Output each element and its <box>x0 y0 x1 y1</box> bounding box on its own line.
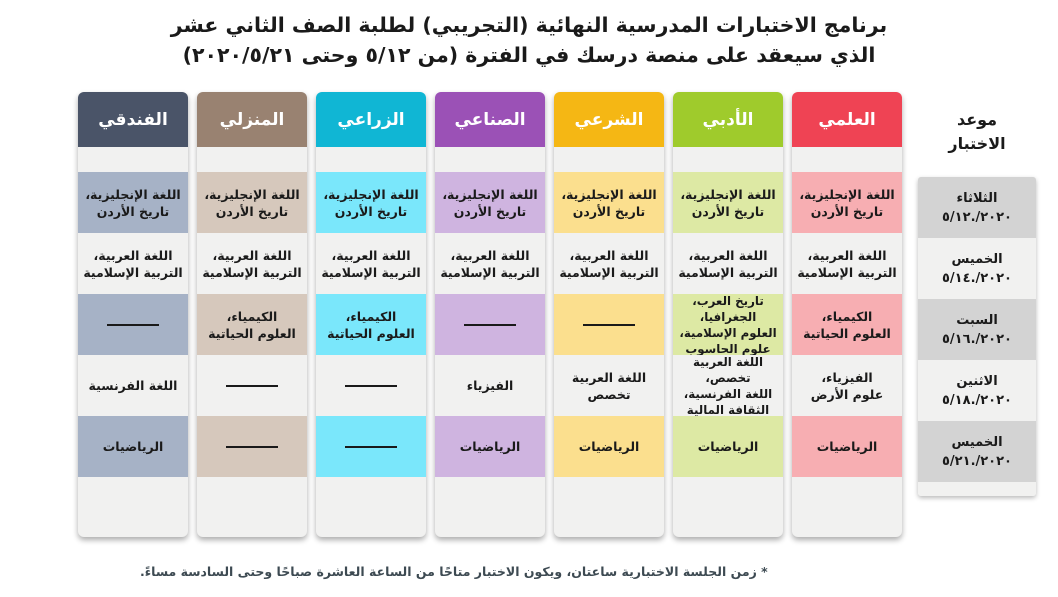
subject-cell: الكيمياء،العلوم الحياتية <box>197 294 307 355</box>
subject-cell: اللغة العربية،التربية الإسلامية <box>554 233 664 294</box>
subject-cell: الرياضيات <box>554 416 664 477</box>
subject-cell-text: اللغة الإنجليزية،تاريخ الأردن <box>799 186 894 220</box>
date-value: ٢٠٢٠/.٥/٢١ <box>942 452 1012 471</box>
subject-cell-line: تاريخ الأردن <box>680 203 775 220</box>
subject-cell: اللغة العربية،التربية الإسلامية <box>78 233 188 294</box>
column-top-spacer <box>435 147 545 172</box>
subject-cell: اللغة العربية،التربية الإسلامية <box>316 233 426 294</box>
column-top-spacer <box>554 147 664 172</box>
subject-cell-text: اللغة الإنجليزية،تاريخ الأردن <box>442 186 537 220</box>
subject-column-header: الزراعي <box>316 92 426 147</box>
subject-cell-text: الرياضيات <box>817 438 878 455</box>
no-exam-dash-icon <box>345 446 397 448</box>
subject-cell-text: اللغة العربية،التربية الإسلامية <box>202 247 301 281</box>
subject-cell-line: اللغة الإنجليزية، <box>323 186 418 203</box>
subject-cell: اللغة العربية،التربية الإسلامية <box>435 233 545 294</box>
subject-cell-line: الرياضيات <box>698 438 759 455</box>
subject-cell-text: اللغة الإنجليزية،تاريخ الأردن <box>85 186 180 220</box>
subject-cell: اللغة الإنجليزية،تاريخ الأردن <box>316 172 426 233</box>
subject-cell: اللغة الإنجليزية،تاريخ الأردن <box>197 172 307 233</box>
subject-cell: الكيمياء،العلوم الحياتية <box>316 294 426 355</box>
date-header-line-2: الاختبار <box>948 132 1005 156</box>
subject-column-header: الأدبي <box>673 92 783 147</box>
subject-cell-line: تاريخ الأردن <box>323 203 418 220</box>
subject-cell-text: الفيزياء <box>467 377 514 394</box>
subject-cell-line: اللغة العربية، <box>83 247 182 264</box>
subject-cell-line: اللغة العربية، <box>559 247 658 264</box>
subject-cell <box>316 355 426 416</box>
date-cell: الخميس٢٠٢٠/.٥/١٤ <box>918 238 1036 299</box>
subject-cell-text: تاريخ العرب، الجغرافيا،العلوم الإسلامية،… <box>678 293 778 357</box>
subject-cell-text: اللغة العربية،التربية الإسلامية <box>321 247 420 281</box>
subject-cell-line: اللغة الإنجليزية، <box>85 186 180 203</box>
date-column-header: موعدالاختبار <box>918 92 1036 172</box>
date-day-label: الخميس <box>951 433 1002 452</box>
subject-cell-text: الرياضيات <box>460 438 521 455</box>
column-bottom-spacer <box>197 477 307 491</box>
subject-cell: الرياضيات <box>78 416 188 477</box>
subject-cell-line: اللغة العربية <box>572 369 646 386</box>
page-title: برنامج الاختبارات المدرسية النهائية (الت… <box>0 10 1058 70</box>
subject-cell-line: تاريخ العرب، الجغرافيا، <box>678 293 778 325</box>
subject-cell-line: العلوم الحياتية <box>803 325 891 342</box>
subject-column-header: الشرعي <box>554 92 664 147</box>
subject-cell <box>197 416 307 477</box>
subject-cell: اللغة الإنجليزية،تاريخ الأردن <box>435 172 545 233</box>
subject-column-3[interactable]: الصناعياللغة الإنجليزية،تاريخ الأردناللغ… <box>435 92 545 537</box>
footnote: * زمن الجلسة الاختبارية ساعتان، ويكون ال… <box>0 564 1036 579</box>
subject-cell-text: الكيمياء،العلوم الحياتية <box>208 308 296 342</box>
subject-cell-text: اللغة الإنجليزية،تاريخ الأردن <box>204 186 299 220</box>
subject-cell-text: الرياضيات <box>698 438 759 455</box>
date-cell: الثلاثاء٢٠٢٠/.٥/١٢ <box>918 177 1036 238</box>
subject-cell-line: تاريخ الأردن <box>561 203 656 220</box>
subject-cell: اللغة العربية،التربية الإسلامية <box>673 233 783 294</box>
subject-cell-text: اللغة العربية،التربية الإسلامية <box>83 247 182 281</box>
subject-cell-text: اللغة الإنجليزية،تاريخ الأردن <box>680 186 775 220</box>
subject-cell-line: التربية الإسلامية <box>678 264 777 281</box>
subject-cell-line: اللغة العربية، <box>321 247 420 264</box>
subject-cell-line: الرياضيات <box>817 438 878 455</box>
column-bottom-spacer <box>78 477 188 491</box>
title-line-1: برنامج الاختبارات المدرسية النهائية (الت… <box>0 10 1058 40</box>
date-day-label: الاثنين <box>956 372 997 391</box>
subject-cell-text: اللغة العربية،التربية الإسلامية <box>440 247 539 281</box>
subject-cell-line: التربية الإسلامية <box>83 264 182 281</box>
column-top-spacer <box>316 147 426 172</box>
subject-column-header: المنزلي <box>197 92 307 147</box>
subject-cell: الفيزياء <box>435 355 545 416</box>
subject-cell-line: اللغة الإنجليزية، <box>799 186 894 203</box>
subject-cell-line: اللغة الإنجليزية، <box>442 186 537 203</box>
subject-column-0[interactable]: الفندقياللغة الإنجليزية،تاريخ الأردناللغ… <box>78 92 188 537</box>
column-bottom-spacer <box>316 477 426 491</box>
date-day-label: السبت <box>956 311 998 330</box>
subject-cell: اللغة الإنجليزية،تاريخ الأردن <box>554 172 664 233</box>
subject-cell: اللغة الإنجليزية،تاريخ الأردن <box>78 172 188 233</box>
date-day-label: الخميس <box>951 250 1002 269</box>
subject-cell-line: اللغة العربية، <box>202 247 301 264</box>
subject-cell-line: الكيمياء، <box>208 308 296 325</box>
subject-column-5[interactable]: الأدبياللغة الإنجليزية،تاريخ الأردناللغة… <box>673 92 783 537</box>
subject-cell-text: الرياضيات <box>579 438 640 455</box>
no-exam-dash-icon <box>464 324 516 326</box>
subject-column-6[interactable]: العلمياللغة الإنجليزية،تاريخ الأردناللغة… <box>792 92 902 537</box>
subject-cell-line: اللغة الإنجليزية، <box>680 186 775 203</box>
subject-cell <box>197 355 307 416</box>
subject-cell-line: اللغة العربية تخصص، <box>678 354 778 386</box>
date-column: موعدالاختبارالثلاثاء٢٠٢٠/.٥/١٢الخميس٢٠٢٠… <box>918 92 1036 537</box>
subject-column-header: الفندقي <box>78 92 188 147</box>
subject-cell-line: الفيزياء <box>467 377 514 394</box>
date-value: ٢٠٢٠/.٥/١٨ <box>942 391 1012 410</box>
subject-cell-line: علوم الأرض <box>811 386 884 403</box>
no-exam-dash-icon <box>107 324 159 326</box>
subject-cell <box>316 416 426 477</box>
subject-cell: اللغة العربية،التربية الإسلامية <box>792 233 902 294</box>
subject-cell-line: الرياضيات <box>460 438 521 455</box>
subject-cell-line: اللغة الفرنسية، <box>678 386 778 402</box>
date-cell: الخميس٢٠٢٠/.٥/٢١ <box>918 421 1036 482</box>
date-column-body: الثلاثاء٢٠٢٠/.٥/١٢الخميس٢٠٢٠/.٥/١٤السبت٢… <box>918 177 1036 496</box>
subject-cell-line: اللغة العربية، <box>797 247 896 264</box>
no-exam-dash-icon <box>226 446 278 448</box>
subject-cell-text: اللغة العربية،التربية الإسلامية <box>678 247 777 281</box>
subject-cell: الفيزياء،علوم الأرض <box>792 355 902 416</box>
subject-cell-line: تاريخ الأردن <box>204 203 299 220</box>
subject-cell-line: اللغة الإنجليزية، <box>561 186 656 203</box>
date-column-footer-spacer <box>918 482 1036 496</box>
date-value: ٢٠٢٠/.٥/١٦ <box>942 330 1012 349</box>
subject-cell-line: الفيزياء، <box>811 369 884 386</box>
subject-cell: اللغة العربية،التربية الإسلامية <box>197 233 307 294</box>
subject-cell-text: اللغة العربية،التربية الإسلامية <box>559 247 658 281</box>
subject-column-header: الصناعي <box>435 92 545 147</box>
subject-cell-text: الكيمياء،العلوم الحياتية <box>327 308 415 342</box>
subject-column-1[interactable]: المنزلياللغة الإنجليزية،تاريخ الأردناللغ… <box>197 92 307 537</box>
exam-schedule-page: برنامج الاختبارات المدرسية النهائية (الت… <box>0 0 1058 597</box>
column-top-spacer <box>78 147 188 172</box>
subject-cell-line: اللغة الفرنسية <box>89 377 178 394</box>
subject-cell-text: اللغة العربية،التربية الإسلامية <box>797 247 896 281</box>
subject-cell-line: الرياضيات <box>103 438 164 455</box>
subject-cell <box>78 294 188 355</box>
subject-cell: تاريخ العرب، الجغرافيا،العلوم الإسلامية،… <box>673 294 783 355</box>
subject-cell-line: الكيمياء، <box>327 308 415 325</box>
subject-cell: اللغة العربية تخصص،اللغة الفرنسية،الثقاف… <box>673 355 783 416</box>
column-top-spacer <box>673 147 783 172</box>
subject-cell-line: الكيمياء، <box>803 308 891 325</box>
no-exam-dash-icon <box>345 385 397 387</box>
subject-cell-text: اللغة العربية تخصص،اللغة الفرنسية،الثقاف… <box>678 354 778 418</box>
subject-cell: اللغة الفرنسية <box>78 355 188 416</box>
date-value: ٢٠٢٠/.٥/١٢ <box>942 208 1012 227</box>
subject-cell: الكيمياء،العلوم الحياتية <box>792 294 902 355</box>
column-top-spacer <box>792 147 902 172</box>
subject-column-header: العلمي <box>792 92 902 147</box>
subject-cell-text: اللغة الفرنسية <box>89 377 178 394</box>
column-bottom-spacer <box>673 477 783 491</box>
subject-cell: اللغة الإنجليزية،تاريخ الأردن <box>673 172 783 233</box>
subject-cell-text: اللغة العربيةتخصص <box>572 369 646 403</box>
subject-cell-text: الرياضيات <box>103 438 164 455</box>
date-cell: الاثنين٢٠٢٠/.٥/١٨ <box>918 360 1036 421</box>
subject-cell-line: تاريخ الأردن <box>442 203 537 220</box>
subject-cell-line: تخصص <box>572 386 646 403</box>
title-line-2: الذي سيعقد على منصة درسك في الفترة (من ٥… <box>0 40 1058 70</box>
subject-cell-text: اللغة الإنجليزية،تاريخ الأردن <box>561 186 656 220</box>
subject-cell-line: اللغة العربية، <box>678 247 777 264</box>
no-exam-dash-icon <box>583 324 635 326</box>
date-cell: السبت٢٠٢٠/.٥/١٦ <box>918 299 1036 360</box>
subject-cell-line: تاريخ الأردن <box>799 203 894 220</box>
subject-cell-line: التربية الإسلامية <box>202 264 301 281</box>
subject-cell: الرياضيات <box>792 416 902 477</box>
column-bottom-spacer <box>792 477 902 491</box>
subject-cell-line: العلوم الإسلامية، <box>678 325 778 341</box>
subject-column-4[interactable]: الشرعياللغة الإنجليزية،تاريخ الأردناللغة… <box>554 92 664 537</box>
subject-cell <box>435 294 545 355</box>
date-header-line-1: موعد <box>957 108 997 132</box>
subject-cell: الرياضيات <box>435 416 545 477</box>
subject-cell-line: الرياضيات <box>579 438 640 455</box>
column-bottom-spacer <box>554 477 664 491</box>
date-value: ٢٠٢٠/.٥/١٤ <box>942 269 1012 288</box>
subject-column-2[interactable]: الزراعياللغة الإنجليزية،تاريخ الأردناللغ… <box>316 92 426 537</box>
subject-cell-line: العلوم الحياتية <box>208 325 296 342</box>
date-day-label: الثلاثاء <box>957 189 998 208</box>
column-bottom-spacer <box>435 477 545 491</box>
subject-cell-text: الكيمياء،العلوم الحياتية <box>803 308 891 342</box>
subject-cell: اللغة العربيةتخصص <box>554 355 664 416</box>
subject-cell <box>554 294 664 355</box>
subject-cell: اللغة الإنجليزية،تاريخ الأردن <box>792 172 902 233</box>
subject-cell-line: اللغة الإنجليزية، <box>204 186 299 203</box>
subject-cell-line: التربية الإسلامية <box>559 264 658 281</box>
subject-cell-line: اللغة العربية، <box>440 247 539 264</box>
no-exam-dash-icon <box>226 385 278 387</box>
subject-cell-line: تاريخ الأردن <box>85 203 180 220</box>
subject-cell-line: التربية الإسلامية <box>321 264 420 281</box>
subject-cell-text: الفيزياء،علوم الأرض <box>811 369 884 403</box>
column-top-spacer <box>197 147 307 172</box>
subject-cell-line: العلوم الحياتية <box>327 325 415 342</box>
schedule-table: موعدالاختبارالثلاثاء٢٠٢٠/.٥/١٢الخميس٢٠٢٠… <box>0 92 1058 537</box>
subject-cell: الرياضيات <box>673 416 783 477</box>
subject-cell-line: التربية الإسلامية <box>440 264 539 281</box>
subject-cell-text: اللغة الإنجليزية،تاريخ الأردن <box>323 186 418 220</box>
subject-cell-line: التربية الإسلامية <box>797 264 896 281</box>
